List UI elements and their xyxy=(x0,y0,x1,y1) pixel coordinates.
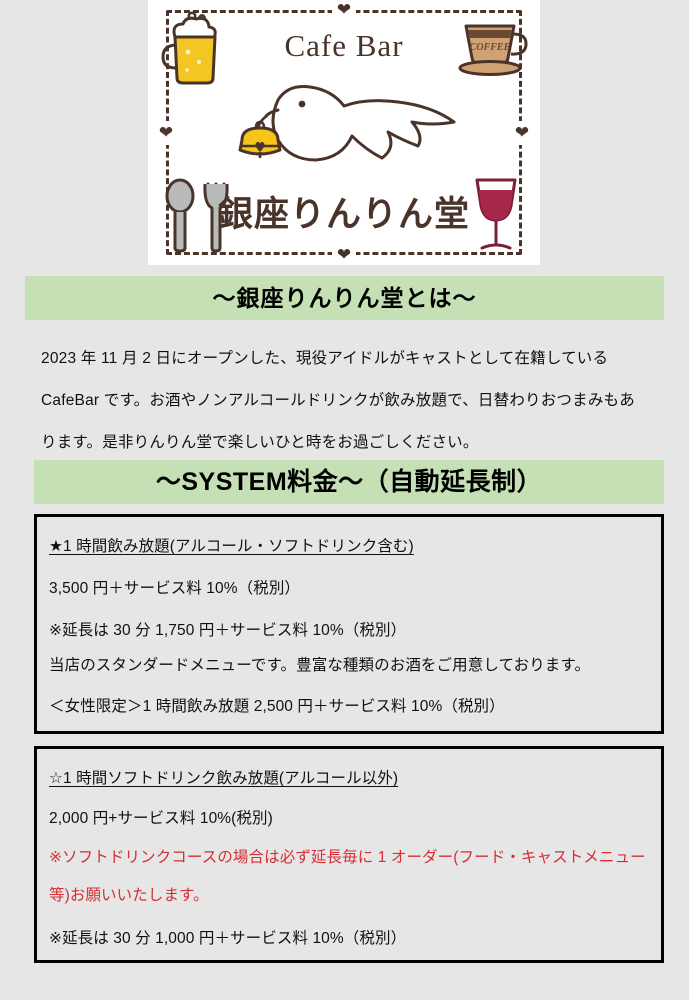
plan-title: ☆1 時間ソフトドリンク飲み放題(アルコール以外) xyxy=(49,766,398,788)
plan-description: 当店のスタンダードメニューです。豊富な種類のお酒をご用意しております。 xyxy=(49,653,590,675)
plan-price: 2,000 円+サービス料 10%(税別) xyxy=(49,806,273,828)
plan-extension-note: ※延長は 30 分 1,000 円＋サービス料 10%（税別） xyxy=(49,926,406,948)
plan-warning-note: 等)お願いいたします。 xyxy=(49,883,209,905)
about-paragraph-line: ります。是非りんりん堂で楽しいひと時をお過ごしください。 xyxy=(41,422,653,464)
plan-title: ★1 時間飲み放題(アルコール・ソフトドリンク含む) xyxy=(49,534,414,556)
about-section-heading: 〜銀座りんりん堂とは〜 xyxy=(25,276,664,320)
plan-ladies-price: ＜女性限定＞1 時間飲み放題 2,500 円＋サービス料 10%（税別） xyxy=(49,694,505,716)
price-plan-box-alcohol: ★1 時間飲み放題(アルコール・ソフトドリンク含む) 3,500 円＋サービス料… xyxy=(34,514,664,734)
dove-icon xyxy=(226,78,466,193)
heart-icon: ❤ xyxy=(514,121,530,145)
heart-icon: ❤ xyxy=(332,247,356,263)
about-paragraph: 2023 年 11 月 2 日にオープンした、現役アイドルがキャストとして在籍し… xyxy=(41,338,653,464)
page-root: ❤ ❤ ❤ ❤ COFFEE xyxy=(0,0,689,1000)
logo-brand-title: Cafe Bar xyxy=(148,28,540,64)
about-paragraph-line: 2023 年 11 月 2 日にオープンした、現役アイドルがキャストとして在籍し… xyxy=(41,338,653,380)
plan-extension-note: ※延長は 30 分 1,750 円＋サービス料 10%（税別） xyxy=(49,618,406,640)
price-plan-box-softdrink: ☆1 時間ソフトドリンク飲み放題(アルコール以外) 2,000 円+サービス料 … xyxy=(34,746,664,963)
shop-logo-card: ❤ ❤ ❤ ❤ COFFEE xyxy=(148,0,540,265)
logo-shop-name: 銀座りんりん堂 xyxy=(148,186,540,237)
plan-price: 3,500 円＋サービス料 10%（税別） xyxy=(49,576,300,598)
plan-warning-note: ※ソフトドリンクコースの場合は必ず延長毎に 1 オーダー(フード・キャストメニュ… xyxy=(49,845,646,867)
system-section-heading: 〜SYSTEM料金〜（自動延長制） xyxy=(34,460,664,504)
heart-icon: ❤ xyxy=(158,121,174,145)
heart-icon: ❤ xyxy=(332,2,356,18)
about-paragraph-line: CafeBar です。お酒やノンアルコールドリンクが飲み放題で、日替わりおつまみ… xyxy=(41,380,653,422)
